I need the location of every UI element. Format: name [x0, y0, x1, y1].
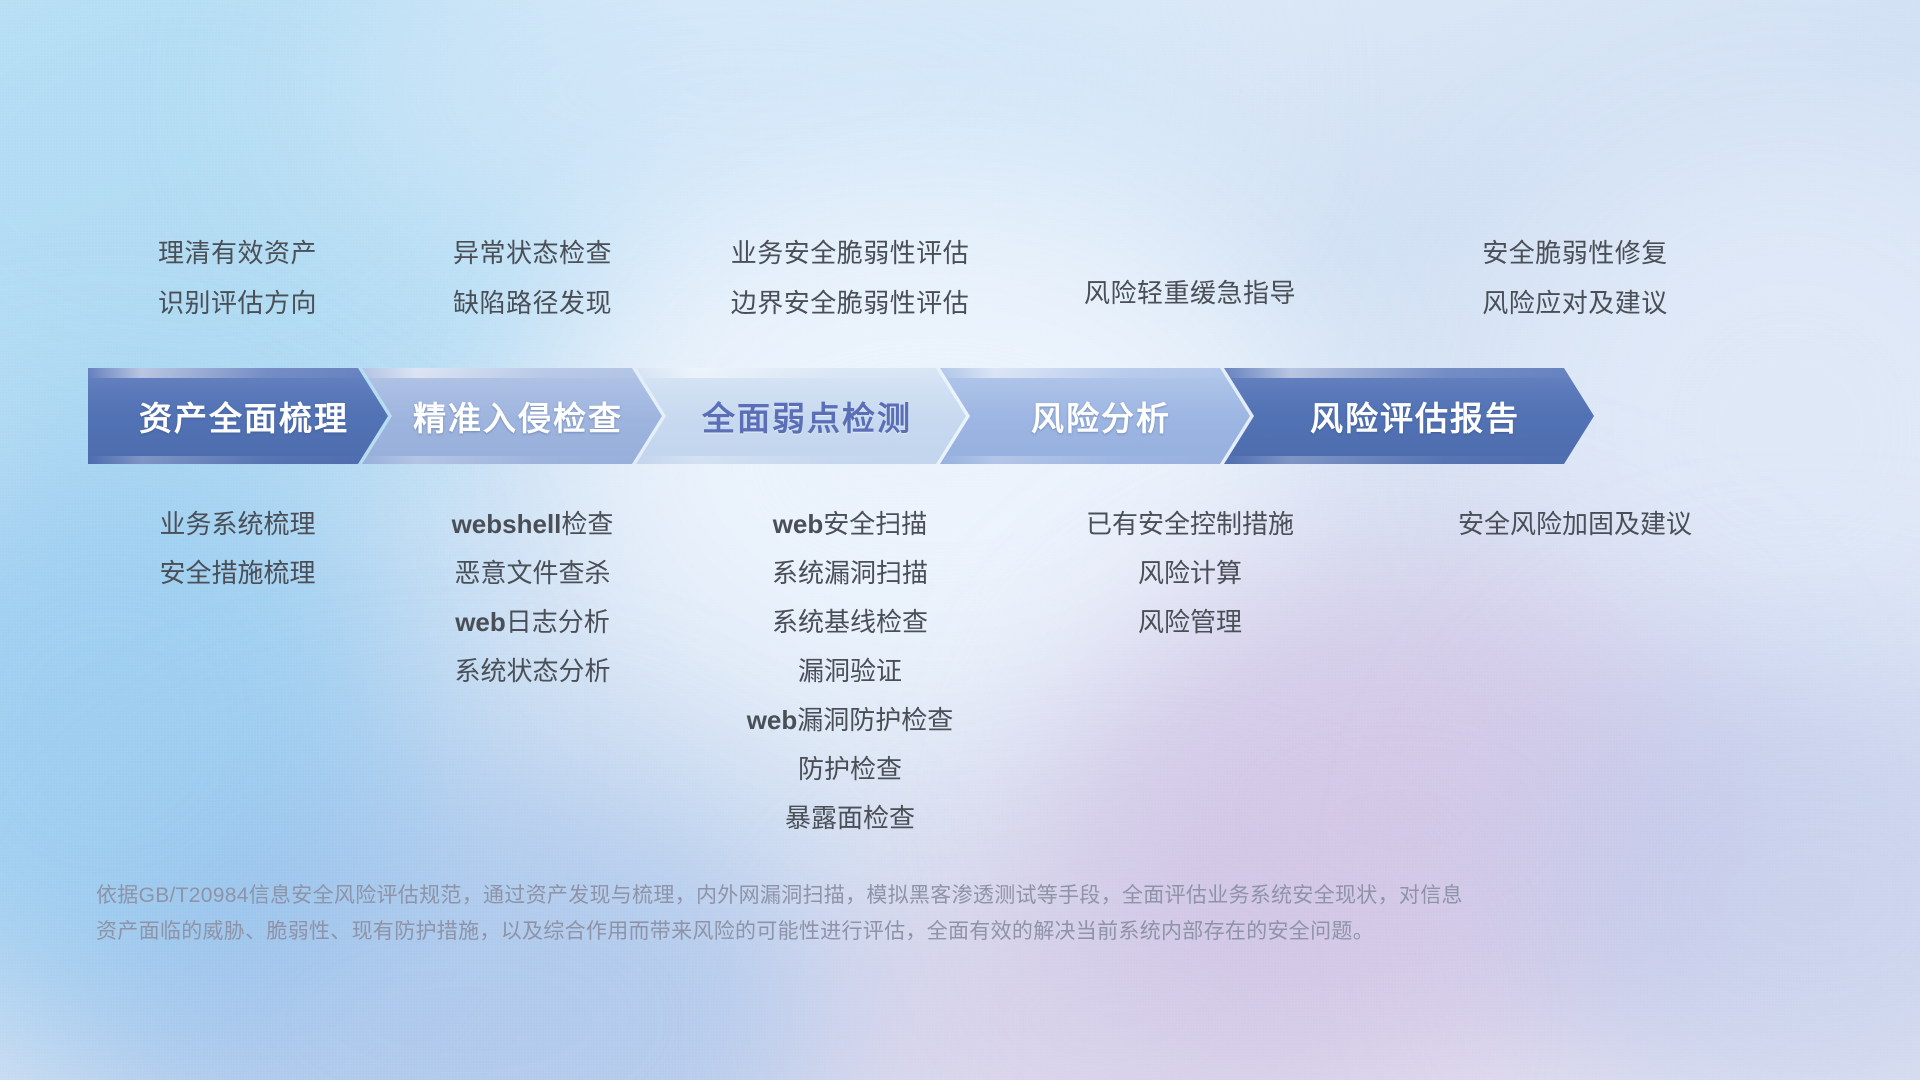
- bottom-label: 风险计算: [1138, 549, 1242, 598]
- top-label: 异常状态检查: [453, 228, 612, 278]
- top-label: 安全脆弱性修复: [1482, 228, 1668, 278]
- top-label-row: 理清有效资产 识别评估方向 异常状态检查 缺陷路径发现 业务安全脆弱性评估 边界…: [90, 228, 1850, 328]
- top-label: 识别评估方向: [158, 278, 317, 328]
- top-label: 业务安全脆弱性评估: [731, 228, 970, 278]
- chevron-highlight: [88, 368, 388, 378]
- bottom-label: 系统漏洞扫描: [772, 549, 928, 598]
- top-label: 理清有效资产: [158, 228, 317, 278]
- bottom-label: 系统基线检查: [772, 598, 928, 647]
- bottom-labels-stage-3: web安全扫描系统漏洞扫描系统基线检查漏洞验证web漏洞防护检查防护检查暴露面检…: [680, 500, 1020, 843]
- bottom-label: 业务系统梳理: [159, 500, 315, 549]
- chevron-highlight: [1224, 456, 1594, 464]
- chevron-highlight: [88, 456, 388, 464]
- chevron-label: 全面弱点检测: [690, 392, 912, 440]
- top-labels-stage-3: 业务安全脆弱性评估 边界安全脆弱性评估: [680, 228, 1020, 328]
- bottom-label: web安全扫描: [773, 500, 928, 549]
- bottom-label: 防护检查: [798, 745, 902, 794]
- top-labels-stage-5: 安全脆弱性修复 风险应对及建议: [1360, 228, 1790, 328]
- bottom-labels-stage-5: 安全风险加固及建议: [1360, 500, 1790, 549]
- footer-line: 资产面临的威胁、脆弱性、现有防护措施，以及综合作用而带来风险的可能性进行评估，全…: [96, 914, 1626, 950]
- chevron-stage-2[interactable]: 精准入侵检查: [362, 368, 662, 464]
- chevron-stage-3[interactable]: 全面弱点检测: [636, 368, 966, 464]
- bottom-label: 漏洞验证: [798, 647, 902, 696]
- stage-chevron-ribbon: 资产全面梳理 精准入侵检查 全面弱点检测 风险分析 风险评估报告: [88, 368, 1568, 464]
- bottom-labels-stage-2: webshell检查恶意文件查杀web日志分析系统状态分析: [385, 500, 680, 696]
- bottom-label: 安全风险加固及建议: [1458, 500, 1692, 549]
- bottom-label: 已有安全控制措施: [1086, 500, 1294, 549]
- bottom-label: 风险管理: [1138, 598, 1242, 647]
- chevron-stage-4[interactable]: 风险分析: [940, 368, 1250, 464]
- bottom-label: 恶意文件查杀: [454, 549, 610, 598]
- top-label: 风险轻重缓急指导: [1084, 268, 1296, 318]
- chevron-highlight: [940, 456, 1250, 464]
- bottom-label: web日志分析: [455, 598, 610, 647]
- top-label: 风险应对及建议: [1482, 278, 1668, 328]
- top-label: 边界安全脆弱性评估: [731, 278, 970, 328]
- top-label: 缺陷路径发现: [453, 278, 612, 328]
- chevron-highlight: [1224, 368, 1594, 378]
- bottom-label: web漏洞防护检查: [747, 696, 954, 745]
- bottom-label-row: 业务系统梳理安全措施梳理webshell检查恶意文件查杀web日志分析系统状态分…: [90, 500, 1850, 843]
- chevron-highlight: [636, 456, 966, 464]
- bottom-label: 安全措施梳理: [159, 549, 315, 598]
- bottom-labels-stage-1: 业务系统梳理安全措施梳理: [90, 500, 385, 598]
- top-labels-stage-2: 异常状态检查 缺陷路径发现: [385, 228, 680, 328]
- process-diagram: 理清有效资产 识别评估方向 异常状态检查 缺陷路径发现 业务安全脆弱性评估 边界…: [0, 0, 1920, 1080]
- chevron-highlight: [362, 456, 662, 464]
- bottom-label: 系统状态分析: [454, 647, 610, 696]
- bottom-labels-stage-4: 已有安全控制措施风险计算风险管理: [1020, 500, 1360, 647]
- top-labels-stage-1: 理清有效资产 识别评估方向: [90, 228, 385, 328]
- bottom-label: webshell检查: [452, 500, 614, 549]
- chevron-label: 风险分析: [1019, 392, 1171, 440]
- chevron-stage-5[interactable]: 风险评估报告: [1224, 368, 1594, 464]
- bottom-label: 暴露面检查: [785, 794, 915, 843]
- chevron-highlight: [636, 368, 966, 378]
- chevron-label: 精准入侵检查: [401, 392, 623, 440]
- footer-description: 依据GB/T20984信息安全风险评估规范，通过资产发现与梳理，内外网漏洞扫描，…: [96, 878, 1626, 950]
- chevron-highlight: [362, 368, 662, 378]
- footer-line: 依据GB/T20984信息安全风险评估规范，通过资产发现与梳理，内外网漏洞扫描，…: [96, 878, 1626, 914]
- chevron-stage-1[interactable]: 资产全面梳理: [88, 368, 388, 464]
- chevron-highlight: [940, 368, 1250, 378]
- chevron-label: 风险评估报告: [1298, 392, 1520, 440]
- chevron-label: 资产全面梳理: [127, 392, 349, 440]
- top-labels-stage-4: 风险轻重缓急指导: [1020, 228, 1360, 328]
